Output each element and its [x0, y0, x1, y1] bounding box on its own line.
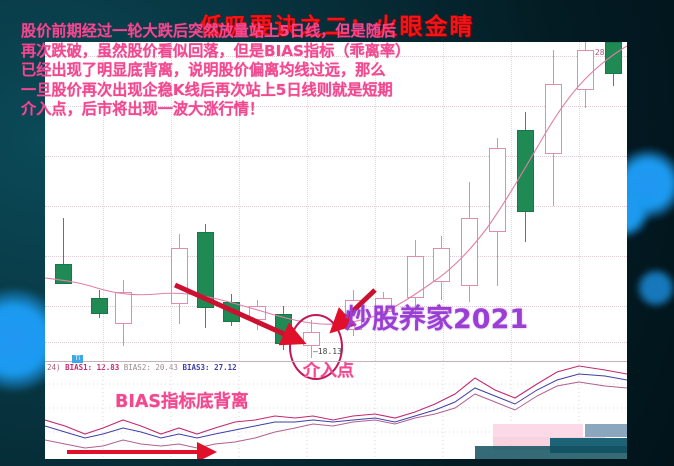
- note-line-3: 已经出现了明显底背离，说明股价偏离均线过远，那么: [21, 61, 457, 81]
- watermark-bar-blue-a: [585, 424, 627, 437]
- note-line-2: 再次跌破，虽然股价看似回落，但是BIAS指标（乖离率）: [21, 42, 457, 62]
- indicator-badge: Ti: [72, 355, 83, 363]
- note-line-5: 介入点，后市将出现一波大涨行情！: [21, 100, 457, 120]
- screenshot-stage: 低吸要诀之二：火眼金睛 28.00: [0, 0, 674, 466]
- watermark-bar-blue-c: [475, 446, 627, 459]
- note-line-4: 一旦股价再次出现企稳K线后再次站上5日线则就是短期: [21, 81, 457, 101]
- watermark-bar-pink-a: [493, 424, 583, 437]
- pane-divider: [45, 361, 627, 362]
- watermark-text: 炒股养家2021: [345, 297, 528, 336]
- note-line-1: 股价前期经过一轮大跌后突然放量站上5日线，但是随后: [21, 22, 457, 42]
- explanation-note: 股价前期经过一轮大跌后突然放量站上5日线，但是随后 再次跌破，虽然股价看似回落，…: [21, 22, 457, 120]
- bias-divergence-label: BIAS指标底背离: [115, 388, 249, 413]
- arrow-divergence: [175, 285, 302, 342]
